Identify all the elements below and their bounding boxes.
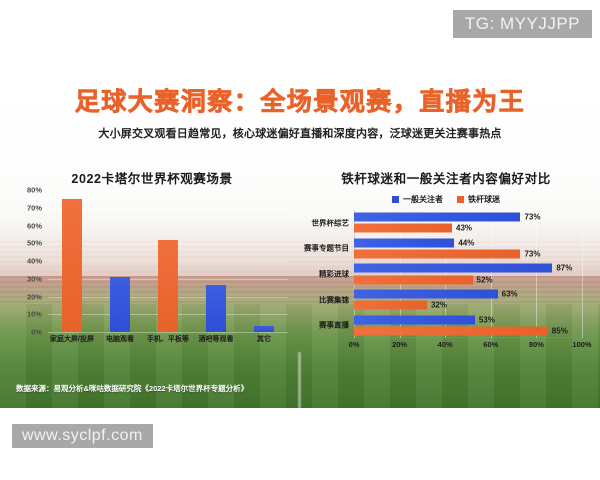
right-chart-legend: 一般关注者 铁杆球迷 xyxy=(300,192,592,206)
left-chart-bar xyxy=(158,240,178,332)
left-chart-bar xyxy=(62,199,82,332)
left-chart-y-tick: 60% xyxy=(27,221,42,230)
right-chart-plot-area: 73%43%44%73%87%52%63%32%53%85% xyxy=(354,210,582,338)
left-chart-x-label: 电脑观看 xyxy=(106,334,134,344)
left-chart-bar-slot xyxy=(96,190,144,332)
right-chart-x-labels: 0%20%40%60%80%100% xyxy=(354,340,582,354)
legend-swatch-diehard xyxy=(457,196,464,203)
left-chart-gridline xyxy=(48,332,288,333)
right-chart-bar: 63% xyxy=(354,289,498,298)
left-chart-y-axis: 0%10%20%30%40%50%60%70%80% xyxy=(8,190,46,332)
right-chart-title: 铁杆球迷和一般关注者内容偏好对比 xyxy=(300,168,592,187)
right-chart-bar-value: 87% xyxy=(556,264,572,273)
right-chart-gridline xyxy=(582,210,583,338)
watermark-bottom-left: www.syclpf.com xyxy=(12,424,153,448)
right-chart-x-tick: 60% xyxy=(483,340,498,349)
left-chart-x-label: 家庭大屏/投屏 xyxy=(50,334,94,344)
right-chart-bar-fill xyxy=(354,250,520,259)
right-chart-bar: 73% xyxy=(354,250,520,259)
sub-title: 大小屏交叉观看日趋常见，核心球迷偏好直播和深度内容，泛球迷更关注赛事热点 xyxy=(0,125,600,141)
left-chart-bar-slot xyxy=(240,190,288,332)
left-chart-x-label: 酒吧等观看 xyxy=(199,334,234,344)
right-chart-x-tick: 20% xyxy=(392,340,407,349)
right-chart-bar: 52% xyxy=(354,275,473,284)
charts-area: 2022卡塔尔世界杯观赛场景 0%10%20%30%40%50%60%70%80… xyxy=(0,168,600,376)
left-chart-y-tick: 0% xyxy=(31,328,42,337)
left-chart-x-label: 手机、平板等 xyxy=(147,334,189,344)
right-chart-bar-value: 85% xyxy=(552,326,568,335)
left-chart-plot-area xyxy=(48,190,288,332)
left-chart-title: 2022卡塔尔世界杯观赛场景 xyxy=(8,168,296,187)
right-chart-bar: 73% xyxy=(354,213,520,222)
right-chart-bar: 85% xyxy=(354,326,548,335)
right-chart-bar-fill xyxy=(354,275,473,284)
right-chart-bar-value: 52% xyxy=(477,275,493,284)
right-chart-bar-fill xyxy=(354,289,498,298)
right-chart-bar: 87% xyxy=(354,264,552,273)
main-title: 足球大赛洞察：全场景观赛，直播为王 xyxy=(0,82,600,118)
right-chart-bar-fill xyxy=(354,315,475,324)
left-chart-y-tick: 40% xyxy=(27,257,42,266)
right-chart-bar-fill xyxy=(354,238,454,247)
right-chart-category-label: 赛事直播 xyxy=(319,320,349,331)
legend-label-general: 一般关注者 xyxy=(403,194,443,205)
right-chart-gridline xyxy=(536,210,537,338)
right-chart-category-label: 精彩进球 xyxy=(319,269,349,280)
left-chart-x-label: 其它 xyxy=(257,334,271,344)
right-chart-bar-value: 32% xyxy=(431,301,447,310)
right-chart-category-label: 比赛集锦 xyxy=(319,294,349,305)
right-chart-category-label: 赛事专题节目 xyxy=(304,243,349,254)
left-chart-bar-slot xyxy=(48,190,96,332)
left-chart: 2022卡塔尔世界杯观赛场景 0%10%20%30%40%50%60%70%80… xyxy=(8,168,296,376)
right-chart-bar: 53% xyxy=(354,315,475,324)
right-chart-x-tick: 80% xyxy=(529,340,544,349)
left-chart-bar xyxy=(254,326,274,332)
right-chart-x-tick: 100% xyxy=(572,340,591,349)
watermark-bottom-text: www.syclpf.com xyxy=(22,427,143,445)
poster-root: TG: MYYJJPP 足球大赛洞察：全场景观赛，直播为王 大小屏交叉观看日趋常… xyxy=(0,0,600,480)
left-chart-y-tick: 50% xyxy=(27,239,42,248)
right-chart: 铁杆球迷和一般关注者内容偏好对比 一般关注者 铁杆球迷 世界杯综艺赛事专题节目精… xyxy=(300,168,592,376)
left-chart-bar-slot xyxy=(144,190,192,332)
watermark-top-text: TG: MYYJJPP xyxy=(465,14,580,34)
right-chart-bar-fill xyxy=(354,264,552,273)
right-chart-bar: 44% xyxy=(354,238,454,247)
legend-item-diehard: 铁杆球迷 xyxy=(457,194,500,205)
left-chart-y-tick: 80% xyxy=(27,186,42,195)
left-chart-y-tick: 30% xyxy=(27,274,42,283)
right-chart-x-tick: 40% xyxy=(438,340,453,349)
right-chart-bar-value: 44% xyxy=(458,238,474,247)
left-chart-y-tick: 20% xyxy=(27,292,42,301)
legend-item-general: 一般关注者 xyxy=(392,194,443,205)
right-chart-x-tick: 0% xyxy=(349,340,360,349)
watermark-top-right: TG: MYYJJPP xyxy=(453,10,592,38)
right-chart-baseline xyxy=(354,337,582,338)
left-chart-y-tick: 70% xyxy=(27,203,42,212)
right-chart-bar-value: 73% xyxy=(524,250,540,259)
right-chart-bar-fill xyxy=(354,213,520,222)
left-chart-y-tick: 10% xyxy=(27,310,42,319)
right-chart-bar-fill xyxy=(354,224,452,233)
right-chart-category-label: 世界杯综艺 xyxy=(312,217,350,228)
legend-label-diehard: 铁杆球迷 xyxy=(468,194,500,205)
right-chart-bar-fill xyxy=(354,301,427,310)
right-chart-bar-value: 53% xyxy=(479,315,495,324)
right-chart-bar-value: 43% xyxy=(456,224,472,233)
right-chart-plot-wrapper: 世界杯综艺赛事专题节目精彩进球比赛集锦赛事直播 73%43%44%73%87%5… xyxy=(300,210,592,360)
right-chart-category-labels: 世界杯综艺赛事专题节目精彩进球比赛集锦赛事直播 xyxy=(300,210,352,338)
poster-stage: 足球大赛洞察：全场景观赛，直播为王 大小屏交叉观看日趋常见，核心球迷偏好直播和深… xyxy=(0,60,600,408)
right-chart-bar-value: 63% xyxy=(502,289,518,298)
headline-block: 足球大赛洞察：全场景观赛，直播为王 大小屏交叉观看日趋常见，核心球迷偏好直播和深… xyxy=(0,82,600,141)
left-chart-bar xyxy=(206,285,226,332)
right-chart-bar: 32% xyxy=(354,301,427,310)
right-chart-bar-value: 73% xyxy=(524,213,540,222)
left-chart-bar-slot xyxy=(192,190,240,332)
right-chart-bar-fill xyxy=(354,326,548,335)
left-chart-x-labels: 家庭大屏/投屏电脑观看手机、平板等酒吧等观看其它 xyxy=(48,334,288,352)
source-note: 数据来源：易观分析&咪咕数据研究院《2022卡塔尔世界杯专题分析》 xyxy=(16,383,248,394)
right-chart-bar: 43% xyxy=(354,224,452,233)
legend-swatch-general xyxy=(392,196,399,203)
left-chart-bar xyxy=(110,277,130,332)
